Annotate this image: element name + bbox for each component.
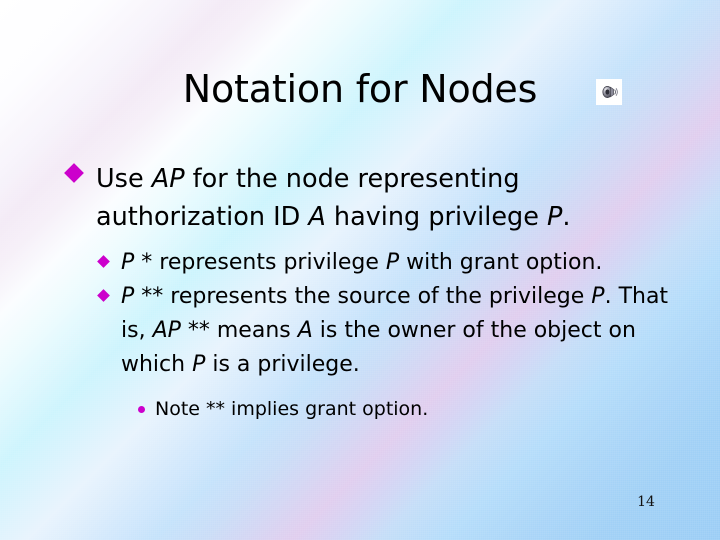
dot-bullet-icon bbox=[138, 406, 145, 413]
bullet-level2-item-2: P ** represents the source of the privil… bbox=[0, 280, 720, 382]
italic-run: AP bbox=[153, 318, 181, 343]
text-run: ** means bbox=[181, 318, 298, 343]
italic-run: A bbox=[298, 318, 313, 343]
page-number: 14 bbox=[626, 494, 666, 510]
bullet-level1-text: Use AP for the node representing authori… bbox=[96, 164, 571, 232]
presentation-slide: Notation for Nodes Use AP for the node r… bbox=[0, 0, 720, 540]
text-run: . bbox=[562, 202, 570, 232]
speaker-icon-glyph bbox=[599, 82, 619, 102]
text-run: * represents privilege bbox=[134, 250, 386, 275]
italic-run: P bbox=[121, 284, 134, 309]
italic-run: AP bbox=[152, 164, 185, 194]
italic-run: P bbox=[192, 352, 205, 377]
bullet-level3-item-1: Note ** implies grant option. bbox=[0, 394, 720, 424]
text-run: Note ** implies grant option. bbox=[155, 398, 428, 420]
diamond-small-bullet-icon bbox=[97, 289, 110, 302]
bullet-level2-item-1: P * represents privilege P with grant op… bbox=[0, 246, 720, 280]
text-run: ** represents the source of the privileg… bbox=[134, 284, 591, 309]
text-run: is a privilege. bbox=[205, 352, 359, 377]
bullet-level2-text-1: P * represents privilege P with grant op… bbox=[121, 250, 602, 275]
text-run: Use bbox=[96, 164, 152, 194]
speaker-icon[interactable] bbox=[596, 79, 622, 105]
diamond-bullet-icon bbox=[64, 163, 84, 183]
italic-run: P bbox=[386, 250, 399, 275]
italic-run: P bbox=[591, 284, 604, 309]
italic-run: P bbox=[121, 250, 134, 275]
text-run: with grant option. bbox=[399, 250, 602, 275]
bullet-level1: Use AP for the node representing authori… bbox=[0, 160, 720, 236]
bullet-level3-text-1: Note ** implies grant option. bbox=[155, 398, 428, 420]
text-run: having privilege bbox=[326, 202, 547, 232]
italic-run: P bbox=[547, 202, 562, 232]
italic-run: A bbox=[308, 202, 325, 232]
diamond-small-bullet-icon bbox=[97, 255, 110, 268]
slide-body: Use AP for the node representing authori… bbox=[0, 160, 720, 424]
bullet-level2-text-2: P ** represents the source of the privil… bbox=[121, 284, 668, 377]
